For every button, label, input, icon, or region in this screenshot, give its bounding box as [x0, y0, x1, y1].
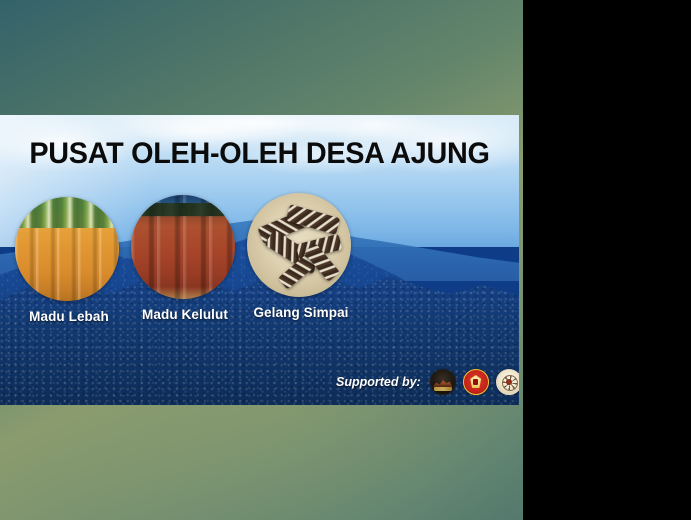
product-item-madu-kelulut: Madu Kelulut — [131, 195, 239, 299]
banner-title: PUSAT OLEH-OLEH DESA AJUNG — [10, 137, 508, 171]
honey-bottles-amber-photo — [15, 197, 119, 301]
product-item-gelang-simpai: Gelang Simpai — [247, 193, 355, 297]
cream-seal-logo — [496, 369, 519, 395]
supported-by-label: Supported by: — [336, 375, 421, 389]
product-item-madu-lebah: Madu Lebah — [15, 197, 123, 301]
woven-bracelets-photo — [247, 193, 351, 297]
mountain-emblem-logo — [430, 369, 456, 395]
supported-by-row: Supported by: — [336, 368, 519, 396]
honey-bottles-dark-photo — [131, 195, 235, 299]
promo-banner-image: PUSAT OLEH-OLEH DESA AJUNG Madu Lebah Ma… — [0, 115, 519, 405]
offscreen-black-area — [523, 0, 691, 520]
slide-stage: PUSAT OLEH-OLEH DESA AJUNG Madu Lebah Ma… — [0, 0, 691, 520]
product-row: Madu Lebah Madu Kelulut Gelang Simpai — [0, 195, 519, 330]
product-label-gelang-simpai: Gelang Simpai — [233, 305, 369, 320]
red-crest-logo — [463, 369, 489, 395]
